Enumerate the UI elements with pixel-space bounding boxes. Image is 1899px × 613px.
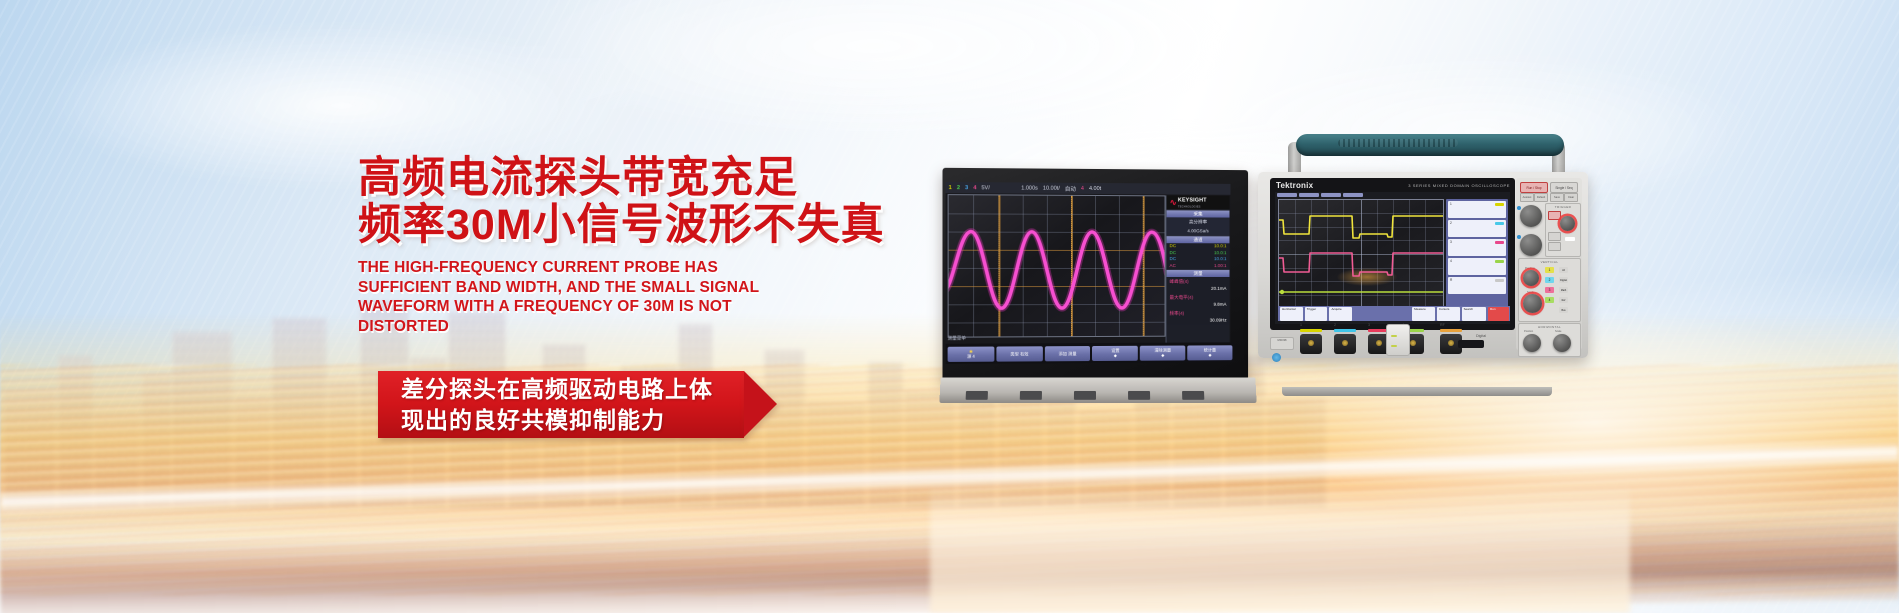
tektronix-tab[interactable]	[1343, 193, 1363, 197]
keysight-channel-1-label: 1	[949, 185, 952, 191]
tektronix-chip-measure[interactable]: Measure	[1412, 307, 1435, 321]
keysight-channels-title: 通道	[1167, 235, 1230, 243]
ref-button[interactable]: Ref	[1559, 297, 1568, 303]
subtitle-english: THE HIGH-FREQUENCY CURRENT PROBE HAS SUF…	[358, 258, 808, 336]
keysight-measure-item: 峰峰值(4) 20.1mA	[1167, 277, 1230, 293]
digital-button[interactable]: Digital	[1559, 277, 1568, 283]
vertical-position-knob[interactable]	[1523, 270, 1539, 286]
all-channels-button[interactable]: All	[1559, 267, 1568, 273]
trigger-section: TRIGGER	[1545, 203, 1581, 257]
tektronix-oscilloscope: Tektronix 3 SERIES MIXED DOMAIN OSCILLOS…	[1252, 128, 1597, 388]
keysight-screen: 1 2 3 4 5V/ 1.000s 10.00t/ 自动 4 4.00t	[946, 182, 1231, 350]
keysight-channel-3-label: 3	[965, 185, 968, 191]
tektronix-tab[interactable]	[1299, 193, 1319, 197]
math-button[interactable]: Math	[1559, 287, 1568, 293]
digital-port[interactable]	[1458, 340, 1484, 348]
headline-line-2: 频率30M小信号波形不失真	[358, 202, 918, 249]
bus-button[interactable]: Bus	[1559, 307, 1568, 313]
tektronix-body: Tektronix 3 SERIES MIXED DOMAIN OSCILLOS…	[1258, 172, 1588, 358]
tektronix-chip-cursors[interactable]: Cursors	[1437, 307, 1460, 321]
keysight-measure-3-label: 频率(4)	[1169, 311, 1184, 316]
digital-port-label: Digital	[1476, 334, 1486, 338]
tektronix-side-badge[interactable]: 3	[1448, 239, 1506, 256]
keysight-bezel: 1 2 3 4 5V/ 1.000s 10.00t/ 自动 4 4.00t	[943, 168, 1249, 382]
tektronix-display-bezel: Tektronix 3 SERIES MIXED DOMAIN OSCILLOS…	[1270, 178, 1515, 330]
keysight-measure-1-value: 20.1mA	[1169, 285, 1226, 292]
tektronix-side-badge[interactable]: 2	[1448, 220, 1506, 237]
tektronix-chip-run[interactable]: Run	[1488, 307, 1509, 321]
autoset-button[interactable]: Autoset	[1520, 193, 1534, 202]
keysight-waveform-grid	[948, 194, 1166, 338]
horizontal-position-label: Position	[1524, 330, 1533, 333]
tektronix-side-badge[interactable]: 1	[1448, 201, 1506, 218]
tektronix-chip-acquire[interactable]: Acquire	[1329, 307, 1352, 321]
tektronix-chip-search[interactable]: Search	[1462, 307, 1486, 321]
keysight-brand-name: KEYSIGHT	[1178, 197, 1207, 203]
keysight-top-status-bar: 1 2 3 4 5V/ 1.000s 10.00t/ 自动 4 4.00t	[946, 182, 1231, 195]
multipurpose-knob-a[interactable]	[1520, 205, 1542, 227]
tektronix-waveform-grid	[1278, 199, 1444, 309]
mdo-label-plate: MDO38	[1270, 337, 1294, 350]
keysight-ch4-ratio: 1.00:1	[1214, 263, 1227, 270]
horizontal-section: HORIZONTAL Position Scale	[1518, 323, 1581, 357]
horizontal-position-knob[interactable]	[1523, 334, 1541, 352]
channel-3-button[interactable]: 3	[1545, 287, 1554, 293]
run-stop-button[interactable]: Run / Stop	[1520, 182, 1548, 193]
tektronix-channel-4-waveform	[1279, 200, 1443, 308]
vertical-section: VERTICAL Position Scale 1 2 3 4 All Digi…	[1518, 258, 1581, 322]
vertical-scale-knob[interactable]	[1523, 294, 1542, 313]
tektronix-bottom-menu-bar[interactable]: Horizontal Trigger Acquire Measure Curso…	[1278, 306, 1510, 321]
keysight-time-scale: 10.00t/	[1043, 185, 1060, 191]
keysight-logo: ∿ KEYSIGHT TECHNOLOGIES	[1167, 195, 1230, 209]
keysight-softkey-settings[interactable]: 设置◆	[1092, 345, 1138, 360]
tektronix-model-line: 3 SERIES MIXED DOMAIN OSCILLOSCOPE	[1408, 183, 1510, 188]
tektronix-tab[interactable]	[1277, 193, 1297, 197]
tektronix-side-menu[interactable]: 1 2 3 4 R	[1446, 199, 1508, 311]
power-button[interactable]	[1272, 353, 1281, 362]
keysight-brand-subtitle: TECHNOLOGIES	[1178, 205, 1201, 208]
keysight-softkey-clear[interactable]: 清除测量◆	[1140, 345, 1185, 360]
tektronix-screen[interactable]: 1 2 3 4 R Horizontal Trigger Acquire Mea…	[1275, 192, 1510, 324]
keysight-trigger-level: 4.00t	[1089, 185, 1101, 191]
tektronix-brand-name: Tektronix	[1276, 181, 1313, 190]
keysight-softkey-menu-label: 测量菜单	[948, 336, 966, 342]
keysight-sine-waveform	[949, 195, 1165, 337]
headline-block: 高频电流探头带宽充足 频率30M小信号波形不失真 THE HIGH-FREQUE…	[358, 155, 918, 336]
background-bottom-fade	[0, 573, 1899, 613]
attached-probe	[1386, 324, 1410, 356]
tektronix-control-panel: Run / Stop Single / Seq Autoset Default …	[1516, 178, 1582, 350]
banner-stage: 高频电流探头带宽充足 频率30M小信号波形不失真 THE HIGH-FREQUE…	[0, 0, 1899, 613]
channel-1-button[interactable]: 1	[1545, 267, 1554, 273]
single-seq-button[interactable]: Single / Seq	[1550, 182, 1578, 193]
bnc-input-2[interactable]: 2	[1334, 334, 1356, 354]
save-button[interactable]: Save	[1550, 193, 1564, 202]
keysight-ch4-coupling: AC	[1169, 263, 1175, 270]
channel-2-button[interactable]: 2	[1545, 277, 1554, 283]
horizontal-scale-label: Scale	[1555, 330, 1562, 333]
tektronix-side-badge[interactable]: R	[1448, 277, 1506, 294]
keysight-side-panel: ∿ KEYSIGHT TECHNOLOGIES 采集 高分辨率 4.00GSa/…	[1166, 195, 1230, 348]
tektronix-side-badge[interactable]: 4	[1448, 258, 1506, 275]
keysight-oscilloscope: 1 2 3 4 5V/ 1.000s 10.00t/ 自动 4 4.00t	[944, 169, 1250, 381]
ribbon-line-1: 差分探头在高频驱动电路上体	[378, 371, 744, 405]
keysight-softkey-add-measure[interactable]: 添加 测量	[1045, 346, 1091, 361]
keysight-channel-2-label: 2	[957, 185, 960, 191]
keysight-measure-3-value: 30.09Hz	[1169, 317, 1226, 324]
keysight-channel-4-label: 4	[973, 185, 976, 191]
headline-line-1: 高频电流探头带宽充足	[358, 155, 918, 202]
keysight-measure-item: 频率(4) 30.09Hz	[1167, 309, 1230, 325]
keysight-logo-wave-icon: ∿	[1169, 198, 1175, 207]
tektronix-input-row: MDO38 1 2 3 4 R	[1270, 328, 1520, 354]
keysight-acquire-title: 采集	[1167, 209, 1230, 217]
tektronix-feet	[1282, 387, 1552, 396]
keysight-softkey-statistics[interactable]: 统计量◆	[1187, 345, 1232, 360]
default-setup-button[interactable]: Default	[1534, 193, 1548, 202]
vertical-section-title: VERTICAL	[1519, 260, 1580, 264]
keysight-measure-title: 测量	[1167, 269, 1230, 277]
trigger-level-knob[interactable]	[1560, 216, 1575, 231]
channel-4-button[interactable]: 4	[1545, 297, 1554, 303]
callout-ribbon: 差分探头在高频驱动电路上体 现出的良好共模抑制能力	[378, 371, 744, 438]
horizontal-scale-knob[interactable]	[1553, 334, 1571, 352]
keysight-softkey-source[interactable]: ◉源 4	[948, 346, 995, 361]
keysight-base	[939, 377, 1256, 402]
keysight-sample-rate: 4.00GSa/s	[1167, 226, 1230, 235]
tektronix-tab[interactable]	[1321, 193, 1341, 197]
keysight-measure-1-label: 峰峰值(4)	[1169, 279, 1188, 284]
keysight-time-position: 1.000s	[1021, 185, 1038, 191]
keysight-acquire-mode: 高分辨率	[1167, 217, 1230, 226]
keysight-softkey-type[interactable]: 类型 有效	[996, 346, 1042, 361]
keysight-vertical-scale: 5V/	[981, 185, 989, 191]
ribbon-line-2: 现出的良好共模抑制能力	[378, 405, 744, 436]
keysight-measure-2-label: 最大电平(4)	[1169, 295, 1193, 300]
trigger-section-title: TRIGGER	[1546, 205, 1580, 209]
keysight-trigger-channel: 4	[1081, 185, 1084, 191]
keysight-softkey-bar: ◉源 4 类型 有效 添加 测量 设置◆ 清除测量◆ 统计量◆	[946, 342, 1235, 364]
horizontal-section-title: HORIZONTAL	[1519, 325, 1580, 329]
tektronix-chip-trigger[interactable]: Trigger	[1305, 307, 1328, 321]
bnc-input-1[interactable]: 1	[1300, 334, 1322, 354]
tektronix-carry-handle[interactable]	[1296, 134, 1564, 156]
keysight-measure-item: 最大电平(4) 9.8mA	[1167, 293, 1230, 309]
keysight-trigger-mode: 自动	[1065, 184, 1076, 192]
clear-button[interactable]: Clear	[1564, 193, 1578, 202]
keysight-measure-2-value: 9.8mA	[1169, 301, 1226, 308]
multipurpose-knob-b[interactable]	[1520, 234, 1542, 256]
tektronix-chip-horizontal[interactable]: Horizontal	[1280, 307, 1303, 321]
